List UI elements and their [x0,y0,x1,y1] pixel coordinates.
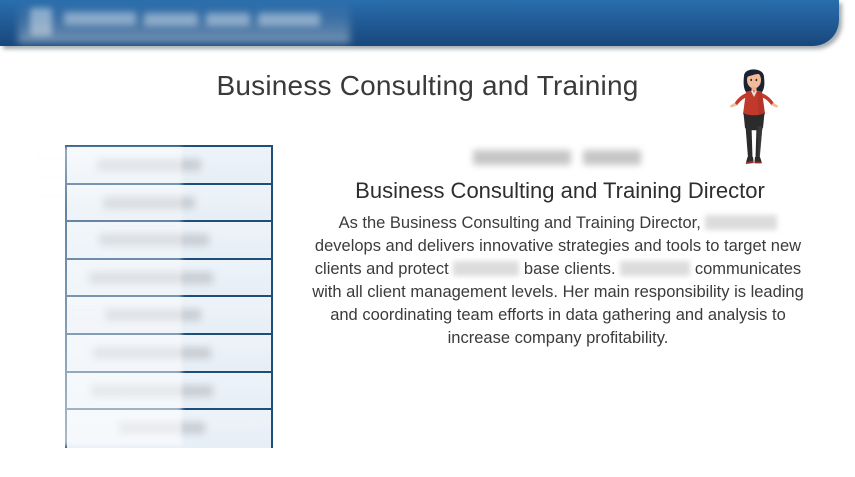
sidebar-item-label [103,197,195,209]
sidebar-menu-table[interactable] [65,145,273,448]
sidebar-item-label [93,347,211,359]
company-logo-icon [30,8,52,36]
sidebar-item-6[interactable] [67,335,271,373]
sidebar-item-7[interactable] [67,373,271,411]
sidebar-item-label [89,272,213,284]
sidebar-item-label [99,234,209,246]
role-title: Business Consulting and Training Directo… [300,178,820,204]
redaction-block [583,150,641,165]
banner-redacted-word [144,13,198,26]
banner-redacted-word [64,12,136,25]
sidebar-item-label [105,309,201,321]
banner-redacted-word [258,13,320,26]
person-name-redacted [463,145,653,171]
sidebar-item-1[interactable] [67,147,271,185]
sidebar-item-2[interactable] [67,185,271,223]
sidebar-item-label [119,422,205,434]
sidebar-item-4[interactable] [67,260,271,298]
banner-redacted-word [206,13,250,26]
top-banner [0,0,839,46]
redaction-block [620,261,690,276]
sidebar-item-3[interactable] [67,222,271,260]
sidebar-item-8[interactable] [67,410,271,448]
bio-text-part-3: base clients. [524,260,616,278]
woman-presenter-illustration [724,62,784,168]
redaction-block [705,215,777,230]
redaction-block [453,261,519,276]
bio-text-part-1: As the Business Consulting and Training … [339,214,701,232]
sidebar-item-5[interactable] [67,297,271,335]
bio-paragraph: As the Business Consulting and Training … [311,212,805,350]
redaction-block [473,150,571,165]
sidebar-item-label [91,385,213,397]
sidebar-item-label [97,159,201,171]
